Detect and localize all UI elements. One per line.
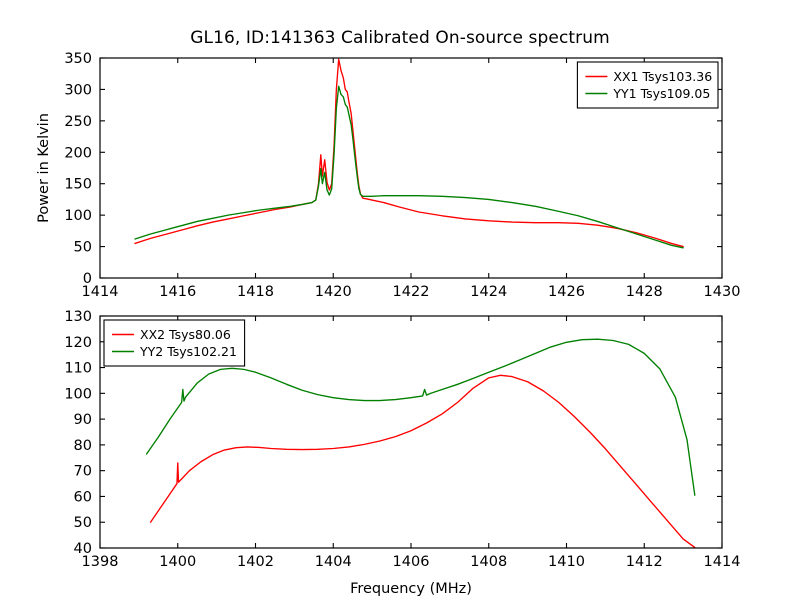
y-tick-label: 50 — [74, 515, 92, 531]
spectrum-figure: GL16, ID:141363 Calibrated On-source spe… — [0, 0, 800, 600]
legend-label: YY2 Tsys102.21 — [139, 344, 237, 359]
y-tick-label: 70 — [74, 464, 92, 480]
x-tick-label: 1426 — [548, 284, 585, 300]
y-tick-label: 350 — [64, 51, 92, 67]
y-tick-label: 200 — [64, 145, 92, 161]
x-tick-label: 1416 — [159, 284, 196, 300]
legend-top[interactable]: XX1 Tsys103.36YY1 Tsys109.05 — [577, 62, 718, 108]
y-tick-label: 60 — [74, 489, 92, 505]
axes-panel-top: 1414141614181420142214241426142814300501… — [36, 51, 740, 300]
y-tick-label: 100 — [64, 386, 92, 402]
x-tick-label: 1428 — [626, 284, 663, 300]
y-tick-label: 130 — [64, 309, 92, 325]
x-tick-label: 1414 — [704, 554, 741, 570]
axes-panel-bottom: 1398140014021404140614081410141214144050… — [64, 309, 740, 597]
y-tick-label: 100 — [64, 208, 92, 224]
x-tick-label: 1424 — [470, 284, 507, 300]
y-tick-label: 250 — [64, 114, 92, 130]
x-tick-label: 1412 — [626, 554, 663, 570]
x-tick-label: 1404 — [315, 554, 352, 570]
y-tick-label: 110 — [64, 361, 92, 377]
y-tick-label: 300 — [64, 82, 92, 98]
legend-bottom[interactable]: XX2 Tsys80.06YY2 Tsys102.21 — [104, 320, 245, 366]
x-tick-label: 1418 — [237, 284, 274, 300]
legend-label: XX2 Tsys80.06 — [140, 327, 231, 342]
plot-canvas: 1414141614181420142214241426142814300501… — [0, 0, 800, 600]
legend-label: XX1 Tsys103.36 — [613, 69, 712, 84]
x-tick-label: 1408 — [470, 554, 507, 570]
y-tick-label: 80 — [74, 438, 92, 454]
x-tick-label: 1410 — [548, 554, 585, 570]
x-tick-label: 1402 — [237, 554, 274, 570]
y-tick-label: 150 — [64, 177, 92, 193]
x-tick-label: 1430 — [704, 284, 741, 300]
x-tick-label: 1400 — [159, 554, 196, 570]
y-tick-label: 40 — [74, 541, 92, 557]
legend-label: YY1 Tsys109.05 — [612, 86, 710, 101]
y-tick-label: 0 — [83, 271, 92, 287]
y-tick-label: 50 — [74, 240, 92, 256]
x-axis-title-bottom: Frequency (MHz) — [350, 581, 472, 597]
y-tick-label: 90 — [74, 412, 92, 428]
y-tick-label: 120 — [64, 335, 92, 351]
y-axis-title-top: Power in Kelvin — [36, 113, 52, 223]
x-tick-label: 1422 — [393, 284, 430, 300]
x-tick-label: 1406 — [393, 554, 430, 570]
x-tick-label: 1420 — [315, 284, 352, 300]
